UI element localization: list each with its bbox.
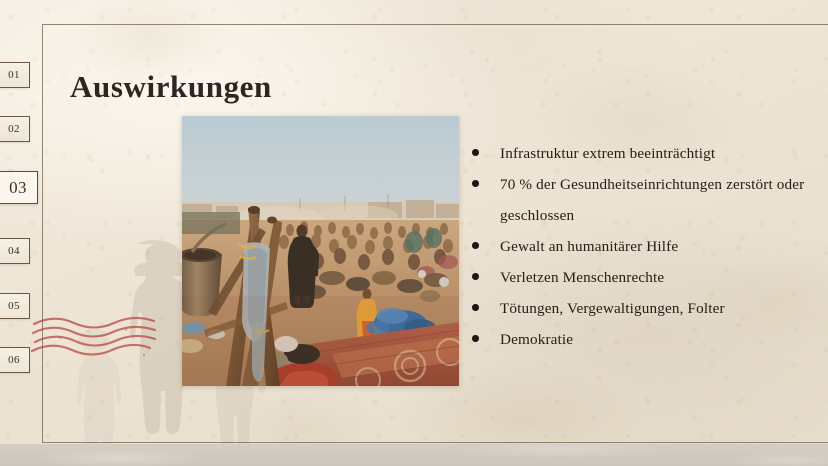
- nav-chip-label: 02: [8, 123, 20, 135]
- presentation-slide: 01 02 03 04 05 06 Auswirkungen: [0, 0, 828, 466]
- slide-title: Auswirkungen: [70, 69, 272, 105]
- slide-section-nav[interactable]: 01 02 03 04 05 06: [0, 0, 44, 466]
- list-item: 70 % der Gesundheitseinrichtungen zerstö…: [466, 169, 828, 231]
- bullet-dot-icon: [472, 335, 479, 342]
- slide-bottom-band: [0, 444, 828, 466]
- bullet-dot-icon: [472, 242, 479, 249]
- bullet-text: 70 % der Gesundheitseinrichtungen zerstö…: [500, 176, 804, 224]
- nav-chip-label: 05: [8, 300, 20, 312]
- bullet-text: Gewalt an humanitärer Hilfe: [500, 238, 678, 255]
- nav-chip-03-active[interactable]: 03: [0, 171, 38, 204]
- nav-chip-01[interactable]: 01: [0, 62, 30, 88]
- list-item: Gewalt an humanitärer Hilfe: [466, 231, 828, 262]
- list-item: Tötungen, Vergewaltigungen, Folter: [466, 293, 828, 324]
- postmark-wave-lines-icon: [30, 308, 175, 364]
- list-item: Infrastruktur extrem beeinträchtigt: [466, 138, 828, 169]
- list-item: Demokratie: [466, 324, 828, 355]
- bullet-dot-icon: [472, 304, 479, 311]
- bullet-text: Verletzen Menschenrechte: [500, 269, 664, 286]
- nav-chip-04[interactable]: 04: [0, 238, 30, 264]
- bullet-dot-icon: [472, 149, 479, 156]
- nav-chip-label: 04: [8, 245, 20, 257]
- bullet-text: Tötungen, Vergewaltigungen, Folter: [500, 300, 725, 317]
- nav-chip-label: 03: [9, 178, 27, 198]
- bullet-text: Demokratie: [500, 331, 573, 348]
- nav-chip-label: 01: [8, 69, 20, 81]
- impact-bullet-list: Infrastruktur extrem beeinträchtigt 70 %…: [466, 138, 828, 355]
- nav-chip-06[interactable]: 06: [0, 347, 30, 373]
- list-item: Verletzen Menschenrechte: [466, 262, 828, 293]
- nav-chip-05[interactable]: 05: [0, 293, 30, 319]
- bullet-dot-icon: [472, 180, 479, 187]
- bullet-text: Infrastruktur extrem beeinträchtigt: [500, 145, 715, 162]
- nav-chip-label: 06: [8, 354, 20, 366]
- bullet-dot-icon: [472, 273, 479, 280]
- slide-photo-refugee-camp: [182, 116, 459, 386]
- nav-chip-02[interactable]: 02: [0, 116, 30, 142]
